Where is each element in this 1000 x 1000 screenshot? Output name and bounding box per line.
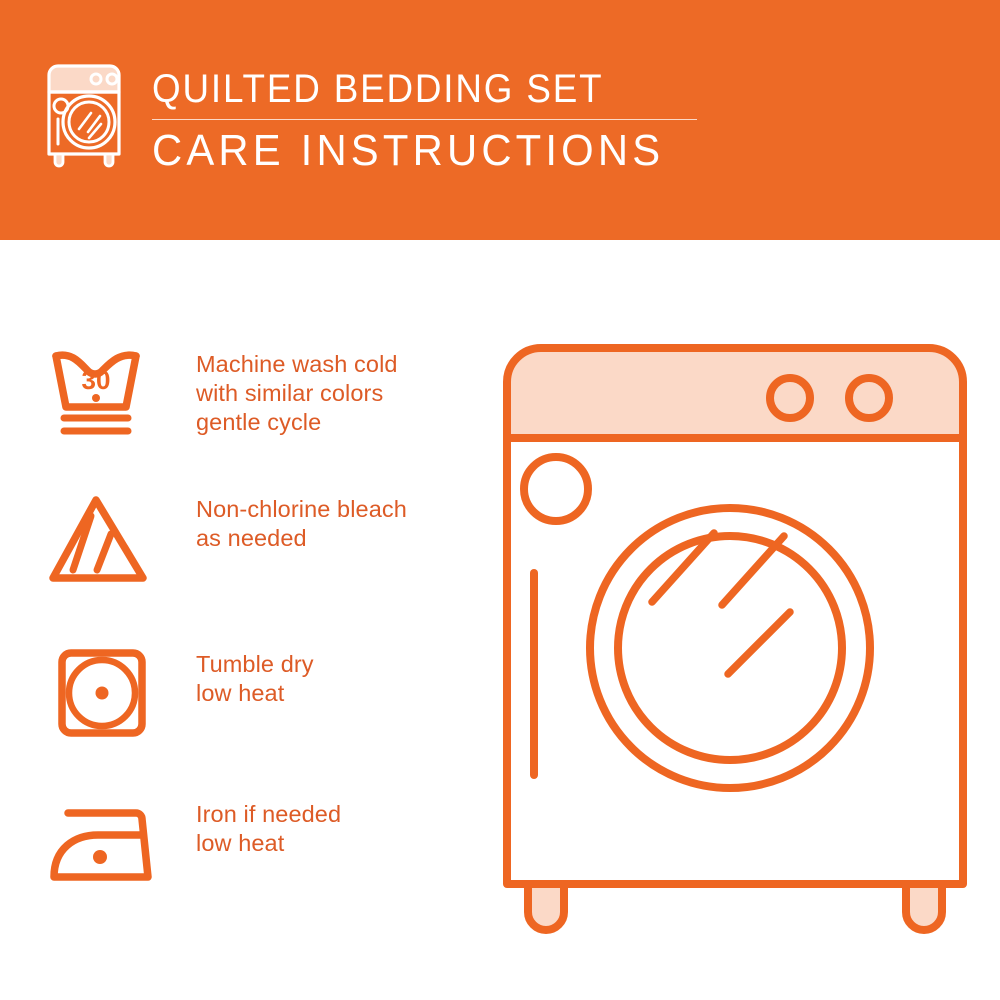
care-label-bleach: Non-chlorine bleach as needed bbox=[196, 483, 407, 553]
header-banner: QUILTED BEDDING SET CARE INSTRUCTIONS bbox=[0, 0, 1000, 240]
care-label-iron: Iron if needed low heat bbox=[196, 788, 341, 858]
foot-right bbox=[906, 884, 942, 930]
care-line: low heat bbox=[196, 829, 341, 858]
iron-low-heat-symbol bbox=[44, 788, 168, 898]
care-line: gentle cycle bbox=[196, 408, 398, 437]
care-instruction-list: 30 Machine wash cold with similar colors… bbox=[0, 240, 500, 1000]
tumble-dry-low-heat-symbol bbox=[44, 638, 168, 748]
care-line: low heat bbox=[196, 679, 314, 708]
page-title: QUILTED BEDDING SET bbox=[152, 66, 653, 112]
title-divider bbox=[152, 119, 697, 120]
wash-basin-30-gentle-symbol: 30 bbox=[44, 338, 168, 448]
wash-temperature-label: 30 bbox=[82, 365, 111, 395]
care-line: with similar colors bbox=[196, 379, 398, 408]
control-panel bbox=[507, 348, 963, 438]
foot-left bbox=[528, 884, 564, 930]
care-label-tumble-dry: Tumble dry low heat bbox=[196, 638, 314, 708]
washing-machine-icon bbox=[44, 64, 124, 168]
washing-machine-illustration bbox=[490, 330, 980, 940]
care-line: Machine wash cold bbox=[196, 350, 398, 379]
page-subtitle: CARE INSTRUCTIONS bbox=[152, 126, 670, 176]
care-label-machine-wash: Machine wash cold with similar colors ge… bbox=[196, 338, 398, 437]
non-chlorine-bleach-triangle-symbol bbox=[44, 483, 168, 593]
header-content: QUILTED BEDDING SET CARE INSTRUCTIONS bbox=[44, 64, 697, 176]
care-instructions-page: QUILTED BEDDING SET CARE INSTRUCTIONS 30 bbox=[0, 0, 1000, 1000]
care-line: Non-chlorine bleach bbox=[196, 495, 407, 524]
care-line: as needed bbox=[196, 524, 407, 553]
header-title-group: QUILTED BEDDING SET CARE INSTRUCTIONS bbox=[152, 64, 697, 176]
care-row-iron: Iron if needed low heat bbox=[44, 788, 494, 898]
care-row-bleach: Non-chlorine bleach as needed bbox=[44, 483, 494, 593]
care-line: Iron if needed bbox=[196, 800, 341, 829]
care-row-machine-wash: 30 Machine wash cold with similar colors… bbox=[44, 338, 494, 448]
care-row-tumble-dry: Tumble dry low heat bbox=[44, 638, 494, 748]
care-line: Tumble dry bbox=[196, 650, 314, 679]
